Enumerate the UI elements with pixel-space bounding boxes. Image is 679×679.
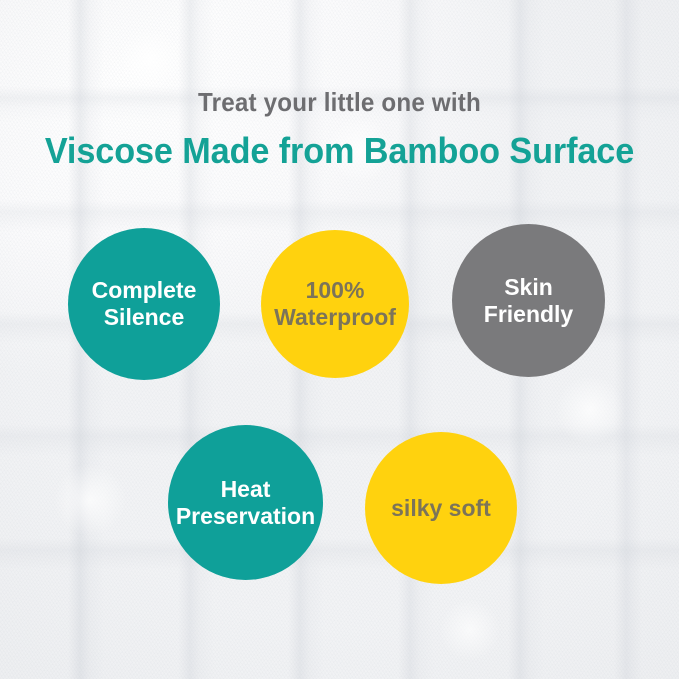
heading-block: Treat your little one with Viscose Made … — [0, 88, 679, 170]
poster-subtitle: Treat your little one with — [24, 88, 655, 117]
feature-line-1: 100% — [306, 277, 365, 303]
feature-line-2: Waterproof — [274, 304, 396, 330]
feature-bubble-label: Heat Preservation — [168, 476, 323, 529]
feature-line-1: Complete — [92, 277, 197, 303]
poster-headline: Viscose Made from Bamboo Surface — [17, 131, 662, 171]
feature-bubble-label: silky soft — [365, 495, 517, 522]
feature-line-1: Heat — [221, 476, 271, 502]
product-feature-poster: Treat your little one with Viscose Made … — [0, 0, 679, 679]
feature-line-1: Skin — [504, 274, 553, 300]
feature-bubble-complete-silence: Complete Silence — [68, 228, 220, 380]
feature-line-2: Silence — [104, 304, 185, 330]
feature-line-2: Friendly — [484, 301, 573, 327]
feature-bubble-label: 100% Waterproof — [261, 277, 409, 330]
feature-bubble-silky-soft: silky soft — [365, 432, 517, 584]
feature-bubble-waterproof: 100% Waterproof — [261, 230, 409, 378]
feature-bubble-label: Complete Silence — [68, 277, 220, 330]
feature-bubble-label: Skin Friendly — [452, 274, 605, 327]
feature-bubble-heat-preservation: Heat Preservation — [168, 425, 323, 580]
feature-line-1: silky soft — [391, 495, 491, 521]
feature-bubble-skin-friendly: Skin Friendly — [452, 224, 605, 377]
feature-line-2: Preservation — [176, 503, 315, 529]
